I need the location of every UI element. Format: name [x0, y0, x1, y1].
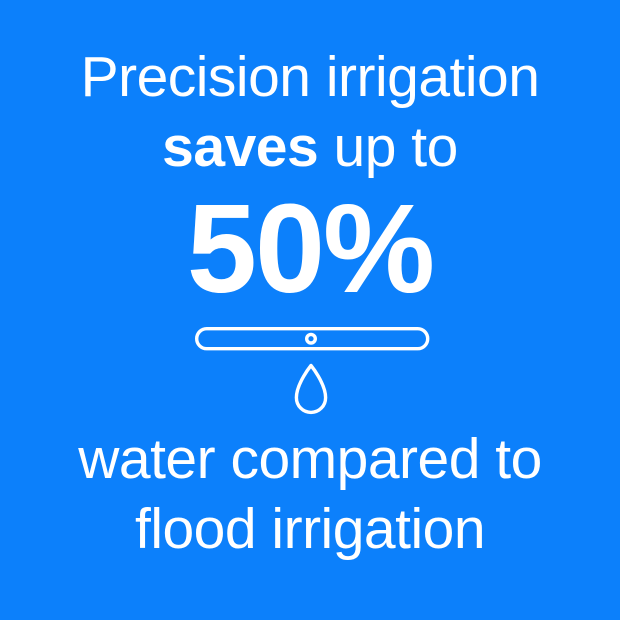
- water-droplet-icon: [296, 366, 325, 413]
- footer-line-1: water compared to: [0, 424, 620, 494]
- headline-emphasis-word: saves: [162, 115, 318, 179]
- drip-irrigation-icon-svg: [185, 320, 435, 420]
- irrigation-pipe-icon: [197, 329, 428, 349]
- footer-text: water compared to flood irrigation: [0, 424, 620, 564]
- footer-line-2: flood irrigation: [0, 494, 620, 564]
- headline-line-2-rest: up to: [318, 115, 458, 179]
- stat-value: 50%: [0, 186, 620, 312]
- headline: Precision irrigation saves up to: [0, 42, 620, 182]
- emitter-nozzle-icon: [307, 334, 316, 343]
- headline-line-1: Precision irrigation: [0, 42, 620, 112]
- drip-irrigation-icon: [185, 320, 435, 420]
- infographic-canvas: Precision irrigation saves up to 50% wat…: [0, 0, 620, 620]
- headline-line-2: saves up to: [0, 112, 620, 182]
